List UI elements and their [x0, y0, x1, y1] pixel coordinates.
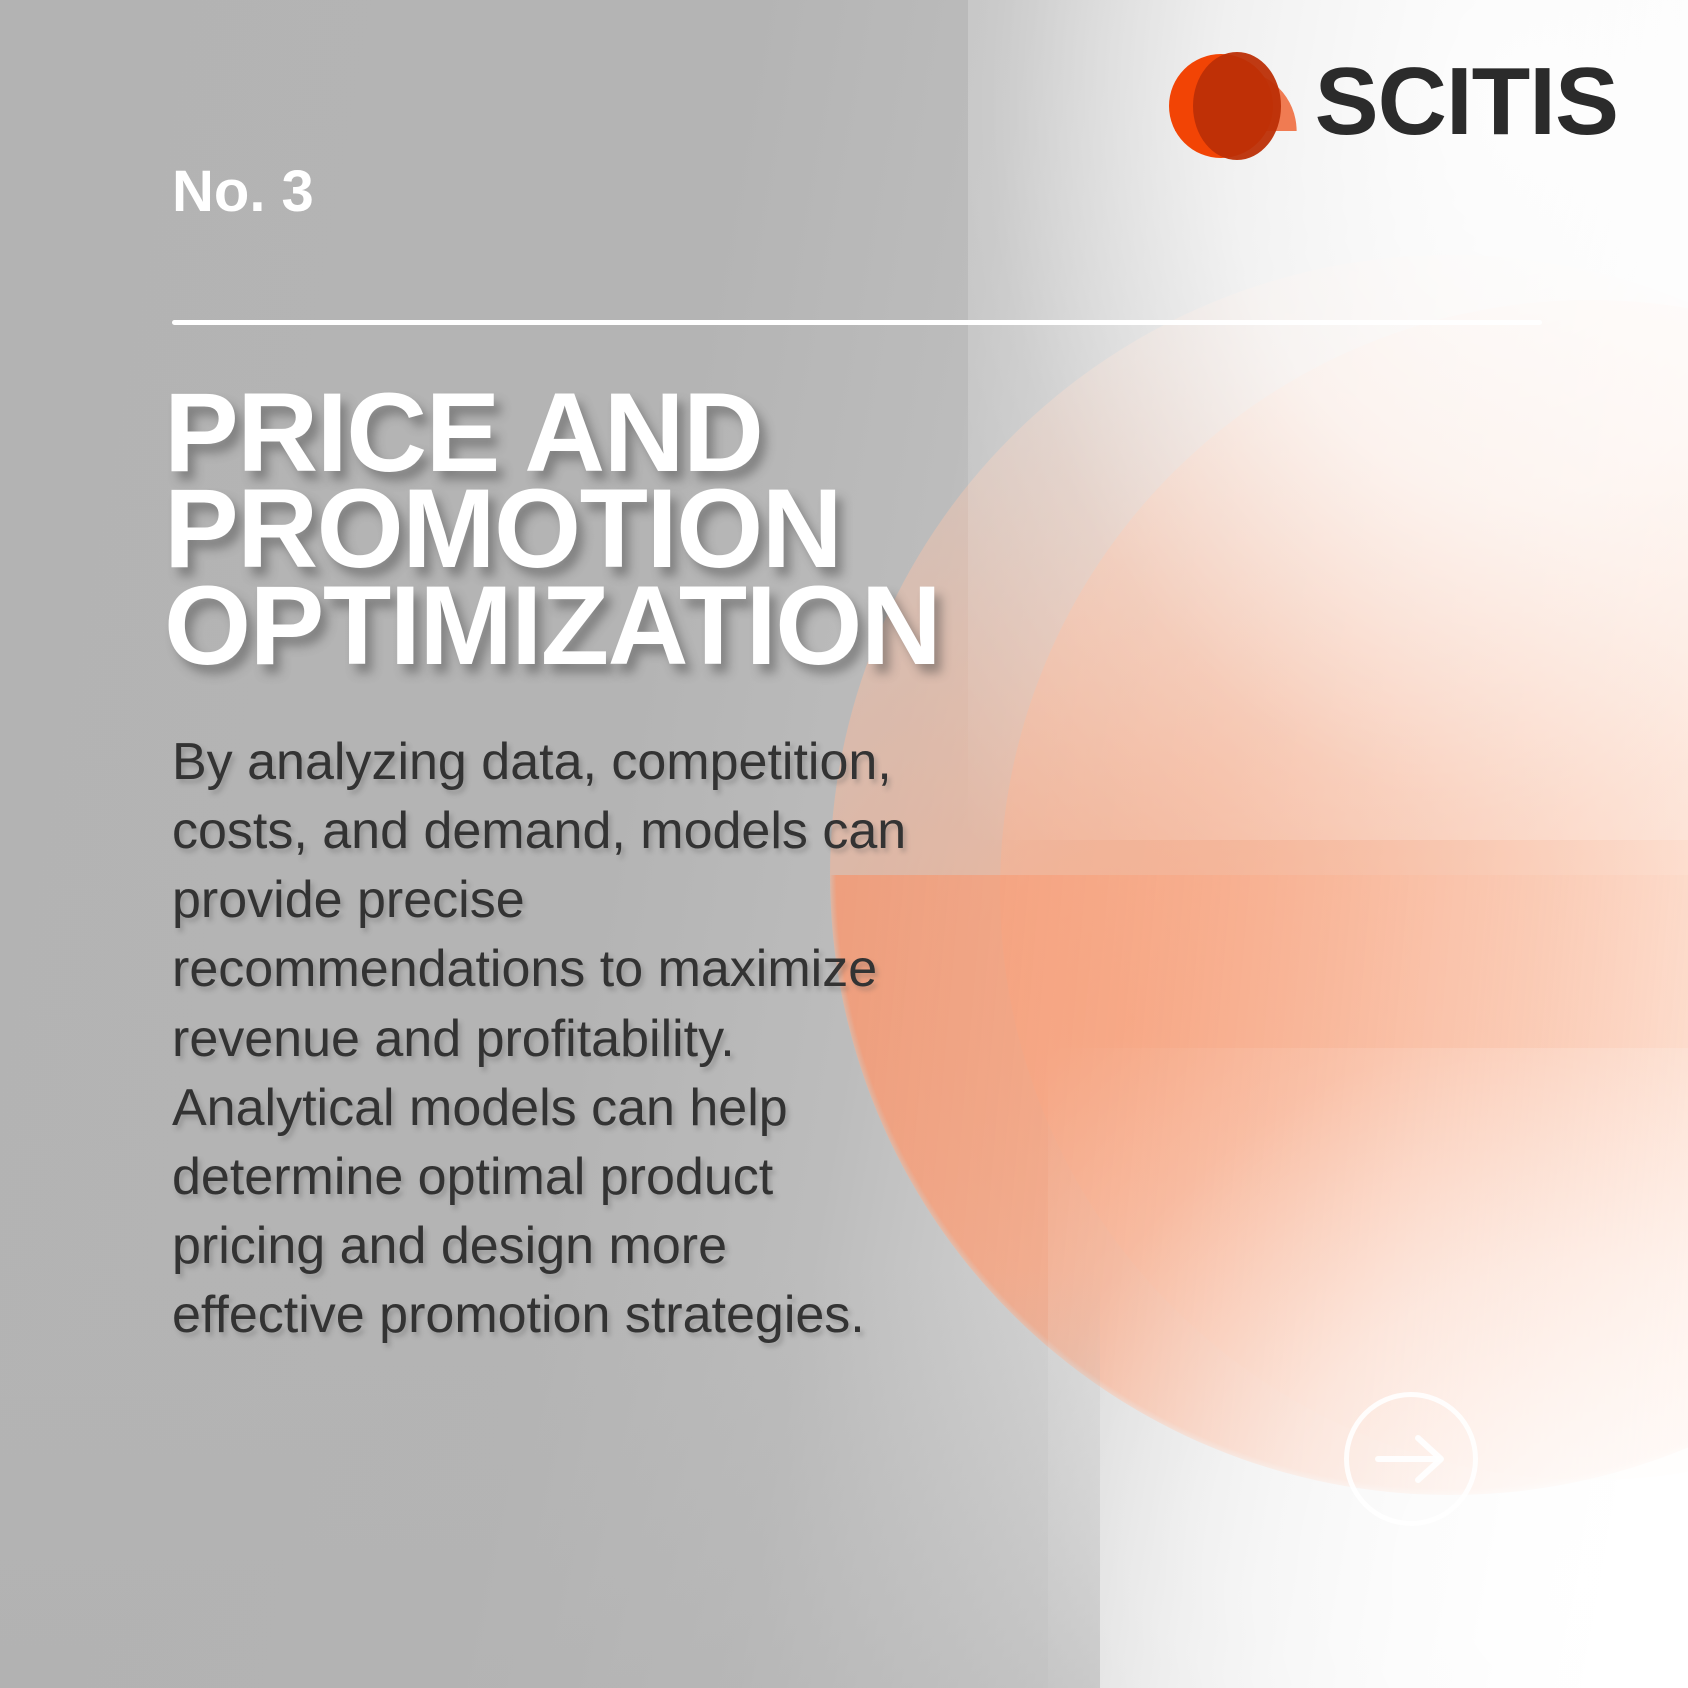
brand-wordmark: SCITIS: [1315, 54, 1618, 150]
page-title: PRICE AND PROMOTION OPTIMIZATION: [164, 385, 1464, 674]
body-paragraph: By analyzing data, competition, costs, a…: [172, 728, 932, 1350]
scitis-logo-icon: [1161, 46, 1289, 158]
arrow-right-icon: [1372, 1431, 1450, 1487]
horizontal-divider: [172, 320, 1542, 325]
brand-logo[interactable]: SCITIS: [1161, 46, 1618, 158]
slide-number-label: No. 3: [172, 163, 314, 221]
slide-card: SCITIS No. 3 PRICE AND PROMOTION OPTIMIZ…: [0, 0, 1688, 1688]
logo-ellipse-shape: [1193, 52, 1281, 160]
next-slide-button[interactable]: [1344, 1392, 1478, 1526]
